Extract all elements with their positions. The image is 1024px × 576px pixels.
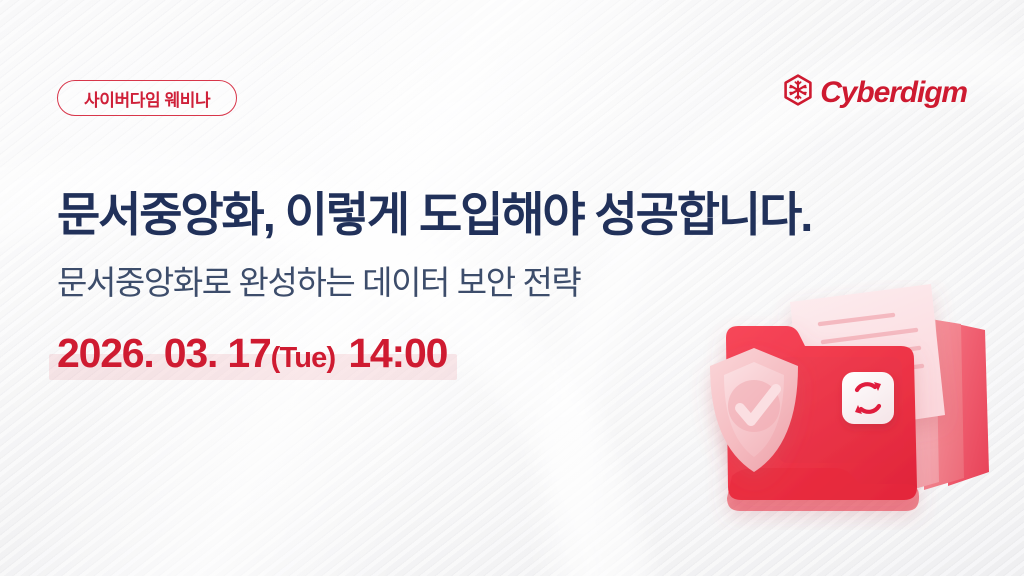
secure-folder-illustration — [648, 280, 1008, 530]
webinar-category-badge: 사이버다임 웨비나 — [57, 80, 237, 116]
banner-content: 사이버다임 웨비나 — [0, 0, 1024, 576]
brand-logo-text: Cyberdigm — [820, 78, 967, 108]
schedule-time: 14:00 — [348, 330, 447, 377]
hexagon-snowflake-icon — [783, 74, 813, 111]
schedule-date: 2026. 03. 17 — [57, 330, 271, 377]
brand-logo: Cyberdigm — [783, 74, 967, 111]
webinar-banner: 사이버다임 웨비나 — [0, 0, 1024, 576]
schedule-weekday: (Tue) — [271, 342, 336, 375]
page-subtitle: 문서중앙화로 완성하는 데이터 보안 전략 — [57, 263, 580, 303]
webinar-category-badge-label: 사이버다임 웨비나 — [84, 86, 210, 111]
schedule-line: 2026. 03. 17 (Tue) 14:00 — [57, 330, 447, 377]
page-title: 문서중앙화, 이렇게 도입해야 성공합니다. — [57, 188, 811, 243]
sync-badge-icon — [842, 372, 894, 424]
